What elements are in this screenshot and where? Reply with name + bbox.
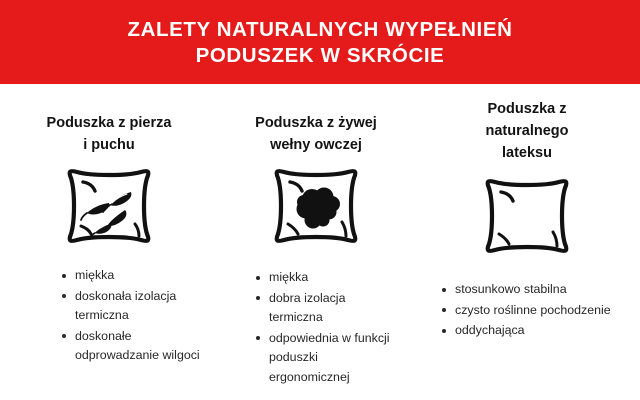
pillow-with-feathers-icon (0, 166, 218, 248)
column-title: Poduszka z pierza i puchu (14, 112, 204, 156)
benefit-list: miękka dobra izolacja termiczna odpowied… (256, 268, 401, 387)
infographic-root: ZALETY NATURALNYCH WYPEŁNIEŃ PODUSZEK W … (0, 0, 640, 400)
column-title: Poduszka z naturalnego lateksu (440, 98, 614, 164)
benefit-list: miękka doskonała izolacja termiczna dosk… (62, 266, 212, 366)
comparison-columns: Poduszka z pierza i puchu (0, 84, 640, 400)
list-item: stosunkowo stabilna (442, 280, 632, 300)
header-title-line-1: ZALETY NATURALNYCH WYPEŁNIEŃ (127, 17, 512, 43)
list-item: czysto roślinne pochodzenie (442, 301, 632, 321)
list-item: dobra izolacja termiczna (256, 289, 401, 328)
list-item: doskonałe odprowadzanie wilgoci (62, 327, 212, 366)
list-item: odpowiednia w funkcji poduszki ergonomic… (256, 329, 401, 388)
header-banner: ZALETY NATURALNYCH WYPEŁNIEŃ PODUSZEK W … (0, 0, 640, 84)
header-title-line-2: PODUSZEK W SKRÓCIE (196, 43, 445, 69)
column-sheep-wool-pillow: Poduszka z żywej wełny owczej (218, 84, 414, 400)
list-item: oddychająca (442, 321, 632, 341)
pillow-plain-icon (414, 176, 640, 258)
list-item: miękka (62, 266, 212, 286)
pillow-with-wool-icon (218, 166, 414, 248)
list-item: miękka (256, 268, 401, 288)
column-feather-down-pillow: Poduszka z pierza i puchu (0, 84, 218, 400)
benefit-list: stosunkowo stabilna czysto roślinne poch… (442, 280, 632, 341)
column-natural-latex-pillow: Poduszka z naturalnego lateksu stosunkow… (414, 84, 640, 400)
list-item: doskonała izolacja termiczna (62, 287, 212, 326)
column-title: Poduszka z żywej wełny owczej (224, 112, 408, 156)
